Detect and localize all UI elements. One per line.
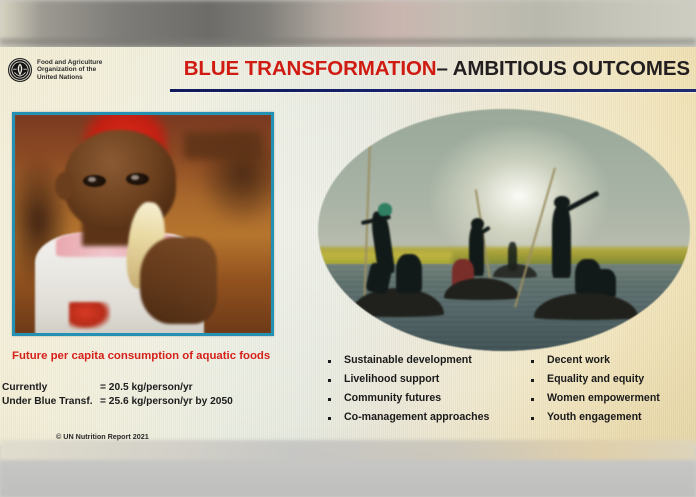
list-item: Sustainable development bbox=[328, 354, 531, 373]
list-item-label: Youth engagement bbox=[547, 411, 642, 423]
list-item: Community futures bbox=[328, 392, 531, 411]
fisher-middle-head bbox=[471, 218, 484, 230]
bullet-dot-icon bbox=[328, 360, 331, 363]
stats-row: Under Blue Transf. = 25.6 kg/person/yr b… bbox=[2, 395, 233, 409]
list-item: Women empowerment bbox=[531, 392, 696, 411]
list-item-label: Decent work bbox=[547, 354, 610, 366]
list-item: Decent work bbox=[531, 354, 696, 373]
fisher-standing-right bbox=[552, 206, 571, 279]
screen-photo-capture: Food and Agriculture Organization of the… bbox=[0, 0, 696, 497]
bullet-dot-icon bbox=[328, 398, 331, 401]
list-item-label: Co-management approaches bbox=[344, 411, 489, 423]
bullet-dot-icon bbox=[531, 360, 534, 363]
slide-title-rest: – AMBITIOUS OUTCOMES bbox=[437, 57, 691, 80]
outcomes-column-1: Sustainable development Livelihood suppo… bbox=[328, 354, 531, 430]
top-blurred-band bbox=[0, 0, 696, 48]
bullet-dot-icon bbox=[328, 417, 331, 420]
list-item: Livelihood support bbox=[328, 373, 531, 392]
outcomes-bullet-lists: Sustainable development Livelihood suppo… bbox=[328, 354, 696, 430]
child-photo-content bbox=[15, 115, 271, 333]
list-item-label: Community futures bbox=[344, 392, 441, 404]
presentation-slide: Food and Agriculture Organization of the… bbox=[0, 47, 696, 445]
bullet-dot-icon bbox=[531, 398, 534, 401]
stats-value-currently: = 20.5 kg/person/yr bbox=[100, 381, 193, 395]
child-eating-photo bbox=[12, 112, 274, 336]
bullet-dot-icon bbox=[531, 379, 534, 382]
outcomes-column-2: Decent work Equality and equity Women em… bbox=[531, 354, 696, 430]
fisher-left-head bbox=[378, 203, 393, 216]
stats-table: Currently = 20.5 kg/person/yr Under Blue… bbox=[2, 381, 233, 409]
slide-title: BLUE TRANSFORMATION– AMBITIOUS OUTCOMES bbox=[0, 57, 690, 81]
stats-heading: Future per capita consumption of aquatic… bbox=[12, 350, 270, 362]
list-item: Co-management approaches bbox=[328, 411, 531, 430]
list-item-label: Equality and equity bbox=[547, 373, 644, 385]
title-underline-rule bbox=[170, 89, 696, 92]
stats-label-currently: Currently bbox=[2, 381, 100, 395]
child-eye-left bbox=[83, 175, 106, 187]
child-ear bbox=[55, 172, 75, 200]
stats-row: Currently = 20.5 kg/person/yr bbox=[2, 381, 233, 395]
bullet-dot-icon bbox=[328, 379, 331, 382]
fishers-canoe-photo bbox=[318, 109, 690, 351]
stats-value-under-blue-transf: = 25.6 kg/person/yr by 2050 bbox=[100, 395, 233, 409]
stats-footnote: © UN Nutrition Report 2021 bbox=[56, 432, 149, 441]
child-arm bbox=[140, 237, 217, 324]
child-shirt-badge bbox=[69, 302, 110, 328]
list-item-label: Sustainable development bbox=[344, 354, 472, 366]
bottom-blurred-band bbox=[0, 440, 696, 497]
list-item: Equality and equity bbox=[531, 373, 696, 392]
slide-title-highlight: BLUE TRANSFORMATION bbox=[184, 57, 437, 80]
bullet-dot-icon bbox=[531, 417, 534, 420]
list-item-label: Women empowerment bbox=[547, 392, 660, 404]
list-item-label: Livelihood support bbox=[344, 373, 439, 385]
stats-label-under-blue-transf: Under Blue Transf. bbox=[2, 395, 100, 409]
list-item: Youth engagement bbox=[531, 411, 696, 430]
child-photo-shelf bbox=[184, 132, 261, 158]
fisher-seated-left bbox=[396, 254, 422, 293]
